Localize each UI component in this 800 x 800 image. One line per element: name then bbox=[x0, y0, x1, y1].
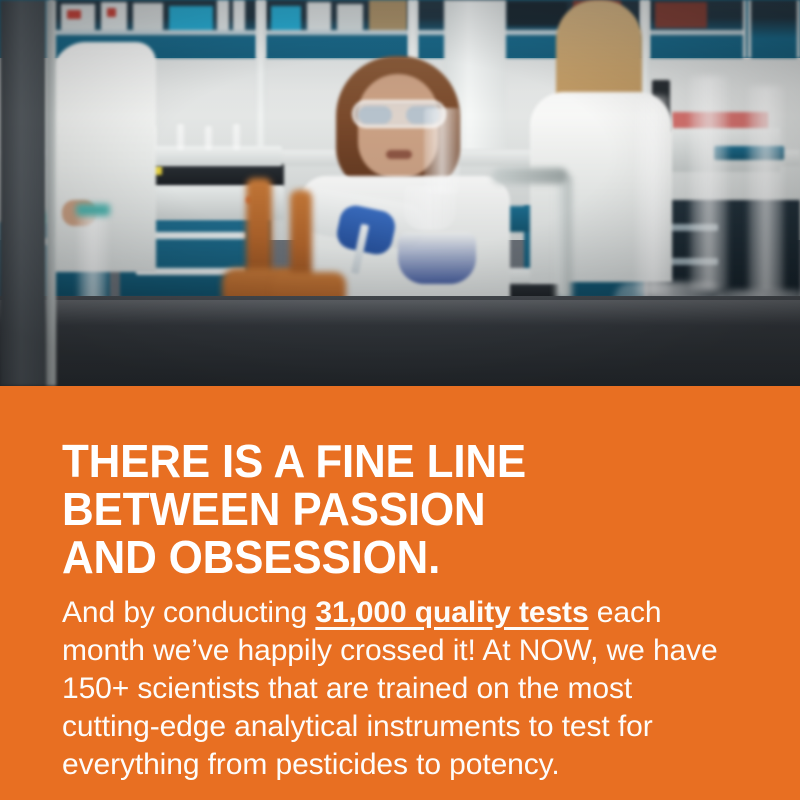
cabinet-dark-item bbox=[507, 2, 567, 26]
gooseneck-arm bbox=[492, 168, 568, 184]
test-tube bbox=[232, 124, 241, 150]
graduated-cylinder-right-2 bbox=[690, 76, 728, 290]
cabinet-red-binder bbox=[655, 2, 707, 28]
bench-reflection bbox=[0, 300, 800, 326]
cabinet-box bbox=[307, 2, 331, 30]
upper-cabinet-2 bbox=[262, 0, 412, 58]
promo-card: 500 THERE IS A FINE LINE BETWEEN PASSION… bbox=[0, 0, 800, 800]
graduated-cylinder-right-1 bbox=[636, 96, 670, 296]
flask-with-blue-liquid bbox=[398, 232, 476, 284]
cabinet-box bbox=[337, 4, 363, 30]
orange-message-panel: THERE IS A FINE LINE BETWEEN PASSION AND… bbox=[0, 386, 800, 800]
cabinet-column bbox=[256, 0, 266, 150]
upper-cabinet-5 bbox=[748, 0, 800, 58]
cabinet-shelf bbox=[53, 30, 257, 35]
cylinder-cap-left-2 bbox=[76, 204, 110, 216]
body-lead: And by conducting bbox=[62, 596, 315, 629]
cabinet-blue-box bbox=[169, 6, 213, 30]
headline: THERE IS A FINE LINE BETWEEN PASSION AND… bbox=[62, 437, 731, 581]
cabinet-divider bbox=[217, 0, 229, 30]
upper-cabinet-4 bbox=[646, 0, 746, 58]
cabinet-blue-box bbox=[271, 6, 301, 30]
cabinet-carton bbox=[369, 0, 407, 30]
left-wall-edge bbox=[46, 0, 56, 386]
cabinet-shelf bbox=[649, 30, 743, 35]
body-copy: And by conducting 31,000 quality tests e… bbox=[62, 594, 734, 784]
center-scientist-mouth bbox=[386, 150, 412, 159]
cabinet-box bbox=[133, 3, 163, 30]
condenser-column bbox=[424, 108, 460, 194]
laboratory-photo: 500 bbox=[0, 0, 800, 386]
test-tube bbox=[176, 124, 185, 150]
quality-tests-highlight: 31,000 quality tests bbox=[315, 596, 588, 629]
gooseneck-faucet bbox=[556, 176, 572, 300]
cabinet-label bbox=[67, 10, 81, 19]
cabinet-shelf bbox=[265, 30, 409, 35]
left-wall-frame bbox=[0, 0, 46, 386]
goggle-lens-left bbox=[358, 106, 392, 124]
cabinet-label bbox=[107, 8, 116, 17]
graduated-cylinder-right-3 bbox=[748, 86, 784, 292]
cabinet-divider bbox=[233, 0, 245, 30]
test-tube bbox=[204, 126, 213, 150]
